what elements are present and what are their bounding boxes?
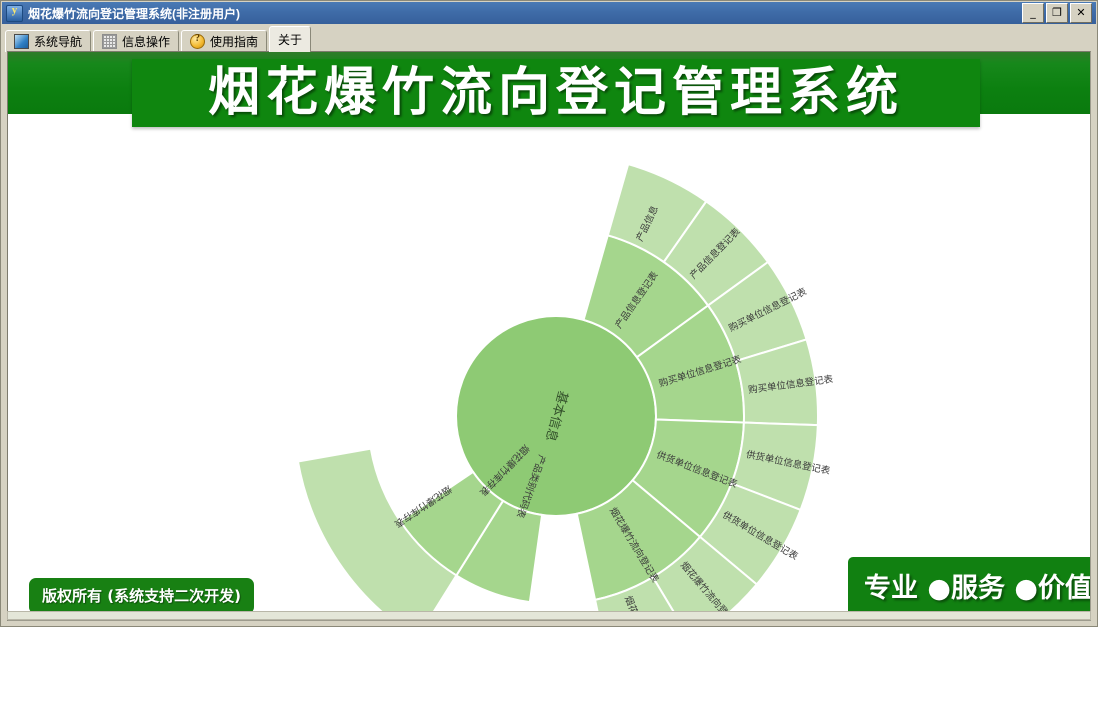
tab-label: 信息操作 xyxy=(122,33,170,50)
close-icon: ✕ xyxy=(1071,8,1091,18)
page-title: 烟花爆竹流向登记管理系统 xyxy=(208,67,904,119)
app-logo-icon xyxy=(6,5,23,22)
tab-label: 使用指南 xyxy=(210,33,258,50)
tab-label: 关于 xyxy=(278,31,302,48)
restore-button[interactable]: ❐ xyxy=(1046,3,1068,23)
tab-information-operations[interactable]: 信息操作 xyxy=(93,30,179,52)
help-guide-icon xyxy=(190,34,205,49)
title-bar: 烟花爆竹流向登记管理系统(非注册用户) _ ❐ ✕ xyxy=(2,2,1096,24)
copyright-badge: 版权所有 (系统支持二次开发) xyxy=(29,578,254,614)
tab-user-guide[interactable]: 使用指南 xyxy=(181,30,267,52)
tab-label: 系统导航 xyxy=(34,33,82,50)
window-controls: _ ❐ ✕ xyxy=(1022,3,1096,23)
minimize-icon: _ xyxy=(1023,8,1043,18)
navigation-icon xyxy=(14,34,29,49)
application-window: 烟花爆竹流向登记管理系统(非注册用户) _ ❐ ✕ 系统导航 信息操作 使用指南… xyxy=(0,0,1098,627)
tab-system-navigation[interactable]: 系统导航 xyxy=(5,30,91,52)
restore-icon: ❐ xyxy=(1047,8,1067,18)
banner-plate: 烟花爆竹流向登记管理系统 xyxy=(132,59,980,127)
window-title: 烟花爆竹流向登记管理系统(非注册用户) xyxy=(28,5,240,22)
tab-about[interactable]: 关于 xyxy=(269,26,311,52)
grid-operations-icon xyxy=(102,34,117,49)
slogan-badge: 专业 ●服务 ●价值 xyxy=(848,557,1091,616)
close-button[interactable]: ✕ xyxy=(1070,3,1092,23)
module-sunburst-chart: 基本信息产品信息登记表产品信息产品信息登记表购买单位信息登记表购买单位信息登记表… xyxy=(8,52,1091,621)
status-strip xyxy=(7,611,1091,620)
tab-bar: 系统导航 信息操作 使用指南 关于 xyxy=(2,25,1096,52)
about-page-content: 基本信息产品信息登记表产品信息产品信息登记表购买单位信息登记表购买单位信息登记表… xyxy=(7,51,1091,621)
minimize-button[interactable]: _ xyxy=(1022,3,1044,23)
